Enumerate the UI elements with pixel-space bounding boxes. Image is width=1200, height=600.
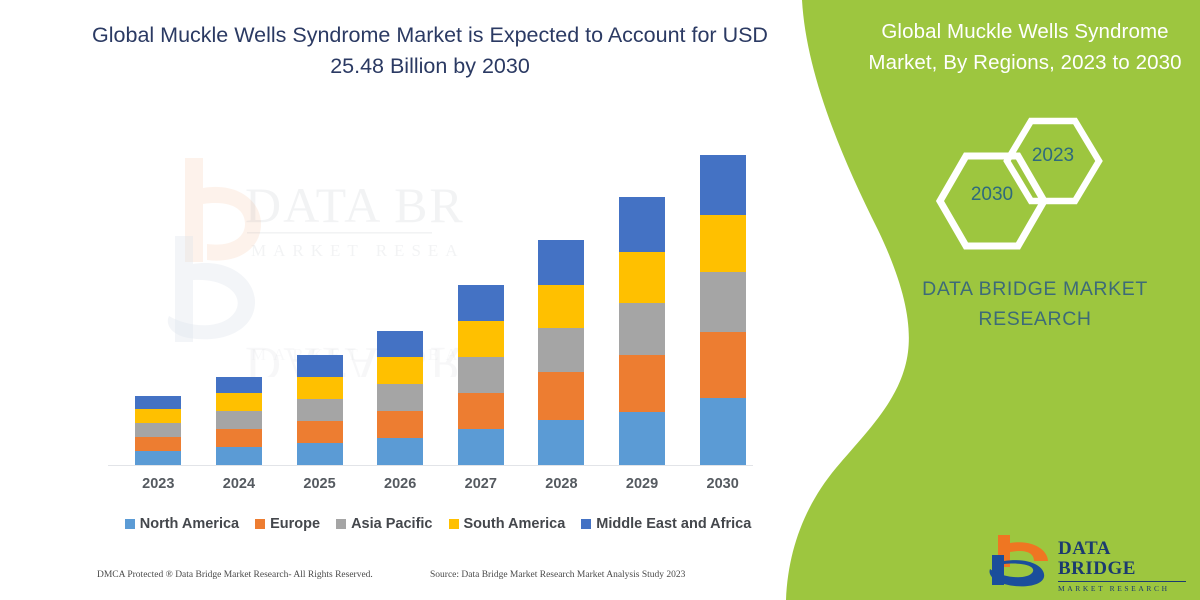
legend-label: North America — [140, 516, 239, 532]
legend-swatch-icon — [449, 519, 459, 529]
x-axis-label-2027: 2027 — [446, 476, 516, 492]
bar-column-2024 — [216, 377, 262, 465]
x-axis-label-2026: 2026 — [365, 476, 435, 492]
bar-column-2026 — [377, 331, 423, 465]
bar-segment — [216, 393, 262, 411]
legend-item[interactable]: Europe — [255, 516, 320, 532]
bar-segment — [297, 443, 343, 465]
infographic-root: Global Muckle Wells Syndrome Market, By … — [0, 0, 1200, 600]
bar-segment — [135, 451, 181, 465]
bar-segment — [377, 331, 423, 357]
bar-segment — [458, 393, 504, 429]
brand-logo-text: DATA BRIDGE MARKET RESEARCH — [1058, 539, 1188, 593]
page-title: Global Muckle Wells Syndrome Market is E… — [80, 20, 780, 82]
bar-segment — [538, 420, 584, 465]
legend-swatch-icon — [336, 519, 346, 529]
legend-swatch-icon — [255, 519, 265, 529]
bar-segment — [377, 438, 423, 465]
bar-segment — [216, 377, 262, 393]
footer-source: Source: Data Bridge Market Research Mark… — [430, 570, 685, 580]
bar-segment — [135, 423, 181, 437]
panel-brand-name: DATA BRIDGE MARKET RESEARCH — [880, 274, 1190, 334]
chart-legend: North AmericaEuropeAsia PacificSouth Ame… — [108, 513, 768, 535]
legend-swatch-icon — [581, 519, 591, 529]
bar-segment — [619, 303, 665, 355]
bar-segment — [377, 411, 423, 438]
legend-label: Asia Pacific — [351, 516, 432, 532]
bar-segment — [700, 155, 746, 215]
bar-segment — [700, 332, 746, 398]
bar-column-2029 — [619, 197, 665, 465]
bar-column-2027 — [458, 285, 504, 465]
bar-segment — [135, 409, 181, 423]
bar-segment — [458, 429, 504, 465]
bar-column-2023 — [135, 396, 181, 465]
hexagon-2023: 2023 — [1003, 117, 1103, 210]
bar-segment — [377, 384, 423, 411]
bar-segment — [135, 437, 181, 451]
x-axis-label-2023: 2023 — [123, 476, 193, 492]
bar-segment — [538, 285, 584, 328]
brand-logo-divider — [1058, 581, 1186, 582]
x-axis-labels: 20232024202520262027202820292030 — [108, 476, 753, 498]
legend-item[interactable]: Asia Pacific — [336, 516, 432, 532]
legend-label: South America — [464, 516, 566, 532]
bar-segment — [458, 357, 504, 393]
bar-segment — [216, 411, 262, 429]
bar-segment — [700, 215, 746, 272]
bar-segment — [297, 399, 343, 421]
bar-segment — [538, 240, 584, 285]
x-axis-label-2025: 2025 — [285, 476, 355, 492]
x-axis-label-2024: 2024 — [204, 476, 274, 492]
bar-column-2025 — [297, 355, 343, 465]
bar-segment — [377, 357, 423, 384]
x-axis-label-2029: 2029 — [607, 476, 677, 492]
legend-label: Europe — [270, 516, 320, 532]
legend-item[interactable]: South America — [449, 516, 566, 532]
bar-segment — [458, 285, 504, 321]
brand-logo-main: DATA BRIDGE — [1058, 539, 1188, 579]
bar-segment — [538, 328, 584, 372]
bar-segment — [700, 272, 746, 332]
bar-segment — [700, 398, 746, 465]
legend-swatch-icon — [125, 519, 135, 529]
bar-segment — [297, 377, 343, 399]
bar-segment — [216, 429, 262, 447]
legend-item[interactable]: Middle East and Africa — [581, 516, 751, 532]
bar-segment — [538, 372, 584, 420]
bar-segment — [619, 252, 665, 303]
bar-segment — [297, 421, 343, 443]
x-axis-label-2028: 2028 — [526, 476, 596, 492]
bar-segment — [619, 355, 665, 412]
bar-segment — [619, 197, 665, 252]
x-axis-label-2030: 2030 — [688, 476, 758, 492]
hexagon-2023-label: 2023 — [1003, 145, 1103, 167]
footer-copyright: DMCA Protected ® Data Bridge Market Rese… — [97, 570, 373, 580]
legend-item[interactable]: North America — [125, 516, 239, 532]
bar-column-2028 — [538, 240, 584, 465]
bar-column-2030 — [700, 155, 746, 465]
bar-segment — [297, 355, 343, 377]
bar-segment — [458, 321, 504, 357]
stacked-bar-chart — [108, 120, 753, 466]
legend-label: Middle East and Africa — [596, 516, 751, 532]
brand-logo-subtitle: MARKET RESEARCH — [1058, 584, 1188, 593]
bar-segment — [216, 447, 262, 465]
bar-segment — [135, 396, 181, 409]
bar-segment — [619, 412, 665, 465]
x-axis-line — [108, 465, 753, 466]
panel-title: Global Muckle Wells Syndrome Market, By … — [860, 16, 1190, 78]
